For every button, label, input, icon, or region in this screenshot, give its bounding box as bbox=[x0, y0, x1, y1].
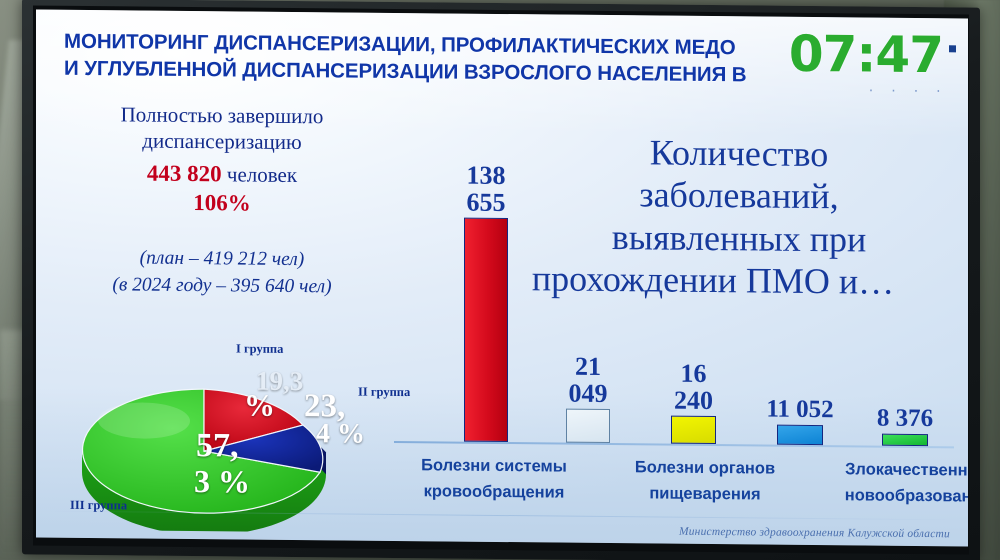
bar-malignant-neoplasms-fill bbox=[882, 434, 928, 446]
pie-value-group-2-bottom: 4 % bbox=[316, 420, 365, 448]
bar-chart-heading-line-3: выявленных при bbox=[524, 215, 954, 262]
stats-count-row: 443 820 человек bbox=[72, 160, 372, 189]
bar-blood-circulation: 138 655 bbox=[464, 218, 508, 442]
stats-percent: 106% bbox=[72, 189, 372, 218]
clock-overlay-subtext: · · · · bbox=[867, 84, 946, 99]
bar-value-blood-circulation-line-1: 138 bbox=[467, 162, 506, 189]
bar-blood-circulation-fill bbox=[464, 218, 508, 442]
bar-chart-heading: Количество заболеваний, выявленных при п… bbox=[524, 130, 954, 304]
bar-value-blue-category: 11 052 bbox=[766, 397, 833, 424]
stats-plan-line-1: (план – 419 212 чел) bbox=[72, 245, 372, 275]
bar-value-other-white-line-2: 049 bbox=[569, 380, 608, 407]
bar-value-digestive-organs-line-2: 240 bbox=[674, 387, 713, 414]
pie-value-group-3-top: 57, bbox=[196, 429, 239, 463]
bar-value-malignant-neoplasms-line-1: 8 376 bbox=[877, 406, 933, 433]
bar-value-other-white: 21 049 bbox=[569, 353, 608, 407]
stats-count-unit: человек bbox=[227, 163, 297, 188]
bar-value-blood-circulation-line-2: 655 bbox=[467, 189, 506, 216]
bar-value-malignant-neoplasms: 8 376 bbox=[877, 406, 933, 433]
bar-chart-heading-line-1: Количество bbox=[524, 130, 954, 177]
pie-value-group-1-bottom: % bbox=[244, 390, 275, 421]
bar-blue-category: 11 052 bbox=[777, 425, 823, 445]
bar-blue-category-fill bbox=[777, 425, 823, 445]
category-label-malignant-neoplasms-line-2: новообразования bbox=[812, 483, 968, 511]
bar-chart-heading-line-2: заболеваний, bbox=[524, 173, 954, 220]
category-label-digestive-organs-line-2: пищеварения bbox=[604, 481, 806, 509]
category-label-blood-circulation-line-2: кровообращения bbox=[388, 478, 600, 506]
bar-value-other-white-line-1: 21 bbox=[569, 353, 608, 380]
category-label-malignant-neoplasms-line-1: Злокачественные bbox=[812, 457, 968, 485]
stats-line-2: диспансеризацию bbox=[72, 127, 372, 155]
bar-digestive-organs: 16 240 bbox=[671, 416, 716, 444]
category-label-blood-circulation-line-1: Болезни системы bbox=[388, 453, 600, 481]
completion-stats-block: Полностью завершило диспансеризацию 443 … bbox=[72, 102, 372, 302]
bar-value-digestive-organs-line-1: 16 bbox=[674, 360, 713, 387]
bar-value-blue-category-line-1: 11 052 bbox=[766, 397, 833, 424]
bar-value-digestive-organs: 16 240 bbox=[674, 360, 713, 414]
category-label-blood-circulation: Болезни системы кровообращения bbox=[388, 453, 600, 506]
bar-value-blood-circulation: 138 655 bbox=[467, 162, 506, 216]
presentation-slide: МОНИТОРИНГ ДИСПАНСЕРИЗАЦИИ, ПРОФИЛАКТИЧЕ… bbox=[36, 10, 968, 547]
stats-plan-block: (план – 419 212 чел) (в 2024 году – 395 … bbox=[72, 245, 372, 302]
clock-time: 07:47 bbox=[789, 29, 943, 80]
clock-overlay: 07:47 bbox=[789, 29, 956, 81]
clock-indicator-dot-icon bbox=[949, 45, 956, 52]
category-label-digestive-organs-line-1: Болезни органов bbox=[604, 455, 806, 483]
health-group-pie-chart: I группа II группа III группа 19,3 % 23,… bbox=[58, 340, 388, 533]
bar-chart-heading-line-4: прохождении ПМО и… bbox=[472, 257, 954, 304]
category-label-digestive-organs: Болезни органов пищеварения bbox=[604, 455, 806, 508]
bar-malignant-neoplasms: 8 376 bbox=[882, 434, 928, 446]
bar-digestive-organs-fill bbox=[671, 416, 716, 444]
bar-other-white-fill bbox=[566, 409, 610, 443]
photo-of-display: МОНИТОРИНГ ДИСПАНСЕРИЗАЦИИ, ПРОФИЛАКТИЧЕ… bbox=[0, 0, 1000, 560]
stats-count-value: 443 820 bbox=[147, 161, 222, 187]
stats-line-1: Полностью завершило bbox=[72, 102, 372, 130]
bar-other-white: 21 049 bbox=[566, 409, 610, 443]
pie-legend-group-1: I группа bbox=[236, 341, 283, 356]
pie-value-group-3-bottom: 3 % bbox=[194, 465, 250, 498]
category-label-malignant-neoplasms: Злокачественные новообразования bbox=[812, 457, 968, 510]
stats-plan-line-2: (в 2024 году – 395 640 чел) bbox=[72, 272, 372, 302]
